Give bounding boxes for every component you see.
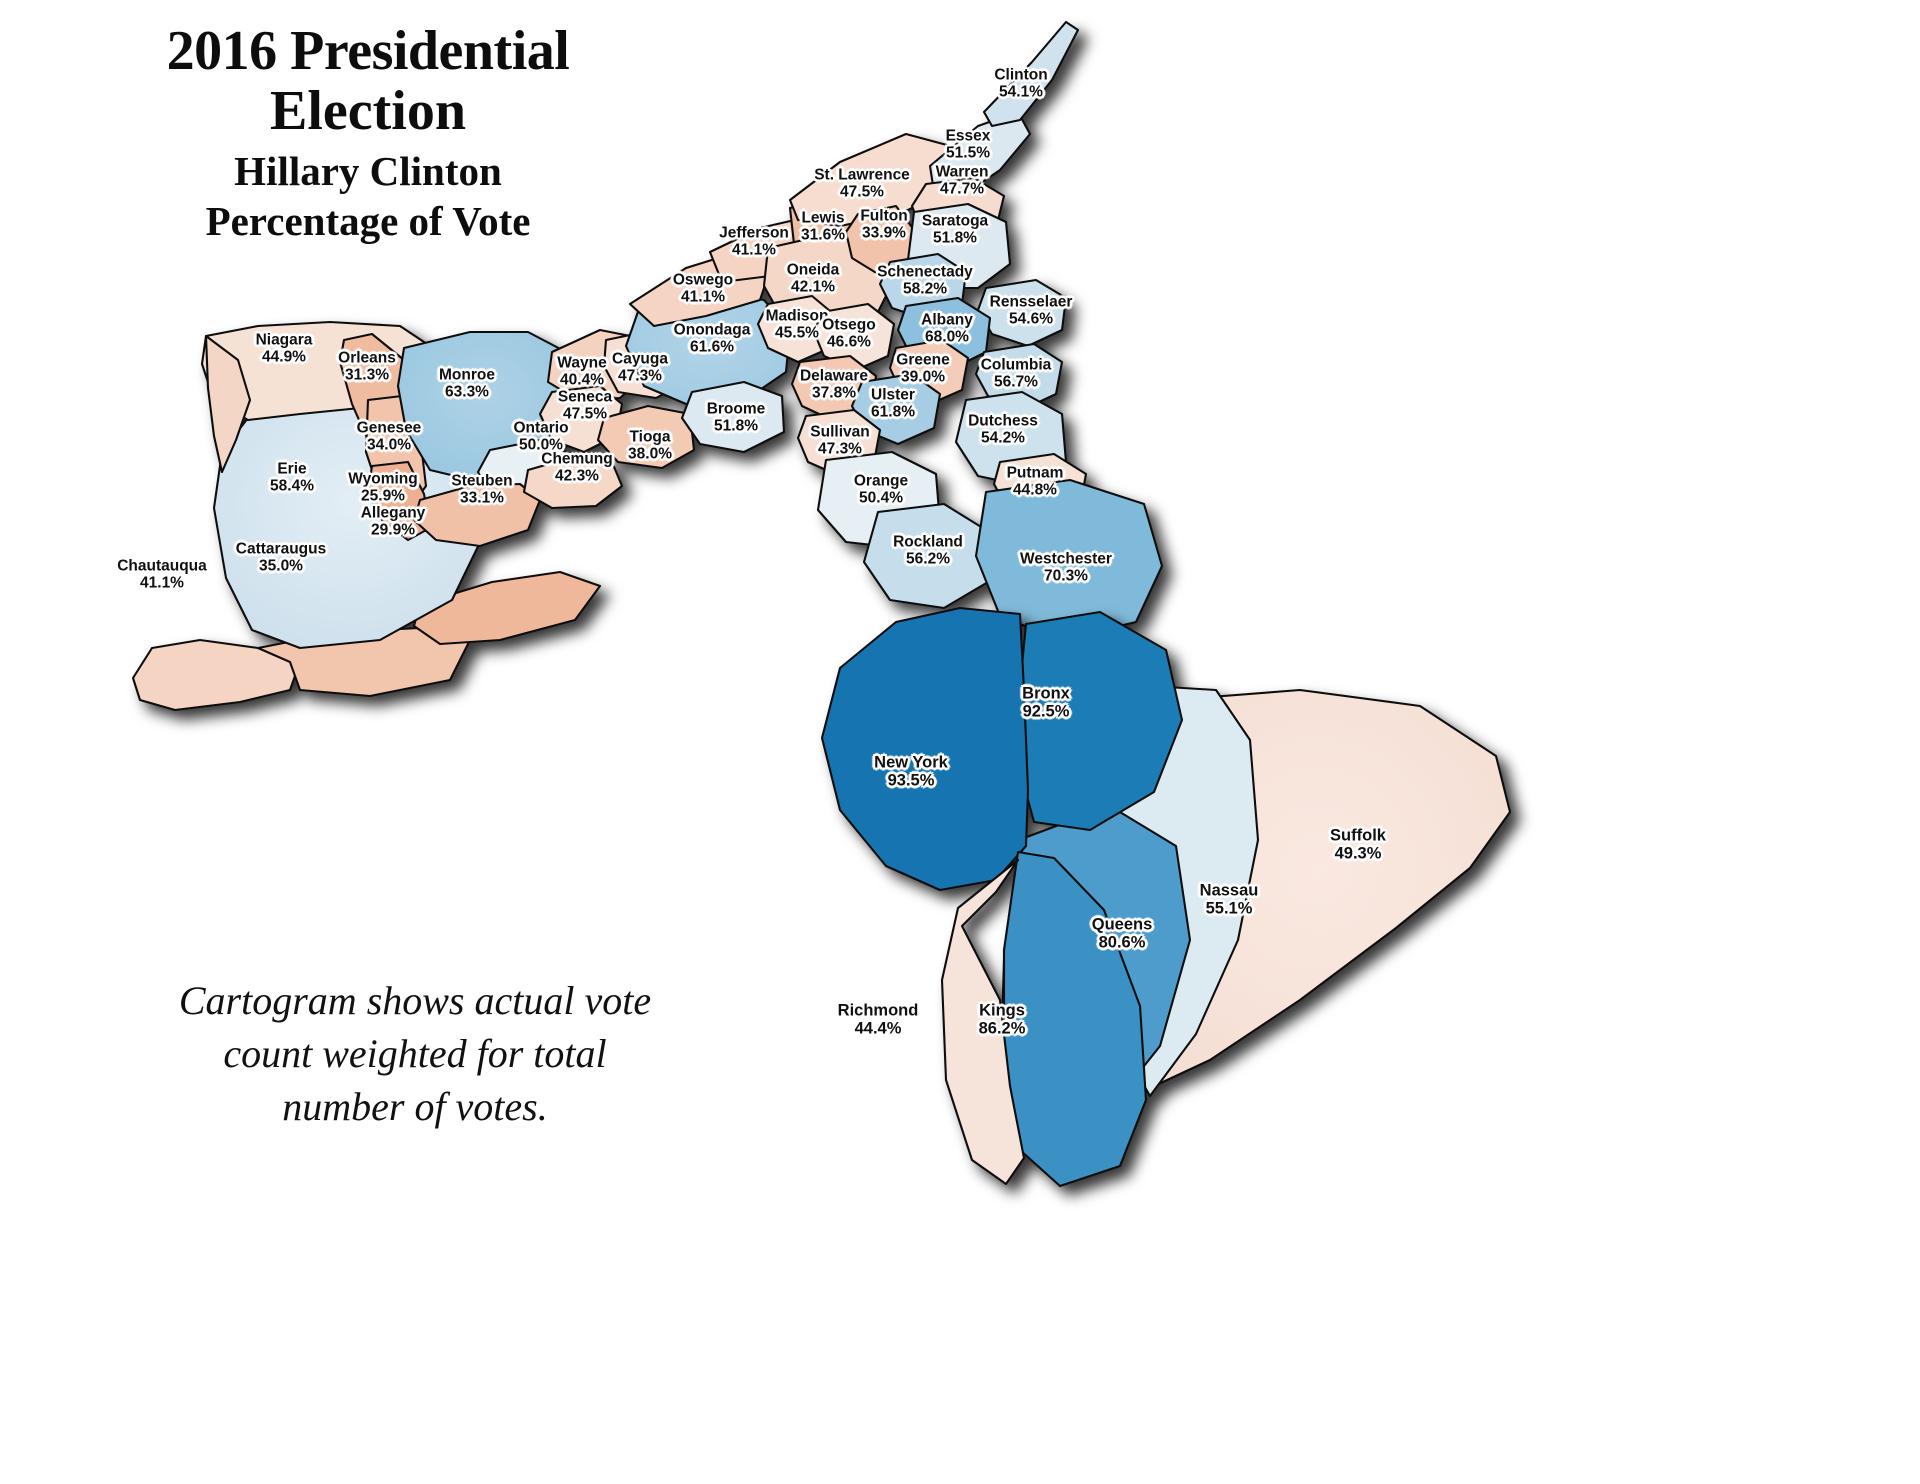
- caption-line-3: number of votes.: [120, 1081, 710, 1134]
- county-shape-rockland: [864, 504, 988, 608]
- figure-caption: Cartogram shows actual vote count weight…: [120, 975, 710, 1133]
- cartogram-map-figure: 2016 Presidential Election Hillary Clint…: [0, 0, 1920, 1484]
- caption-line-2: count weighted for total: [120, 1028, 710, 1081]
- county-shape-broome: [682, 382, 784, 452]
- county-shape-tioga: [598, 406, 694, 468]
- county-shape-clinton: [984, 22, 1078, 126]
- upstate-landmass: [133, 22, 1162, 710]
- county-shape-rensselaer: [978, 280, 1066, 346]
- caption-line-1: Cartogram shows actual vote: [120, 975, 710, 1028]
- county-shape-newyork: [822, 608, 1028, 890]
- cartogram-shapes: [0, 0, 1920, 1484]
- downstate-landmass: [822, 608, 1510, 1186]
